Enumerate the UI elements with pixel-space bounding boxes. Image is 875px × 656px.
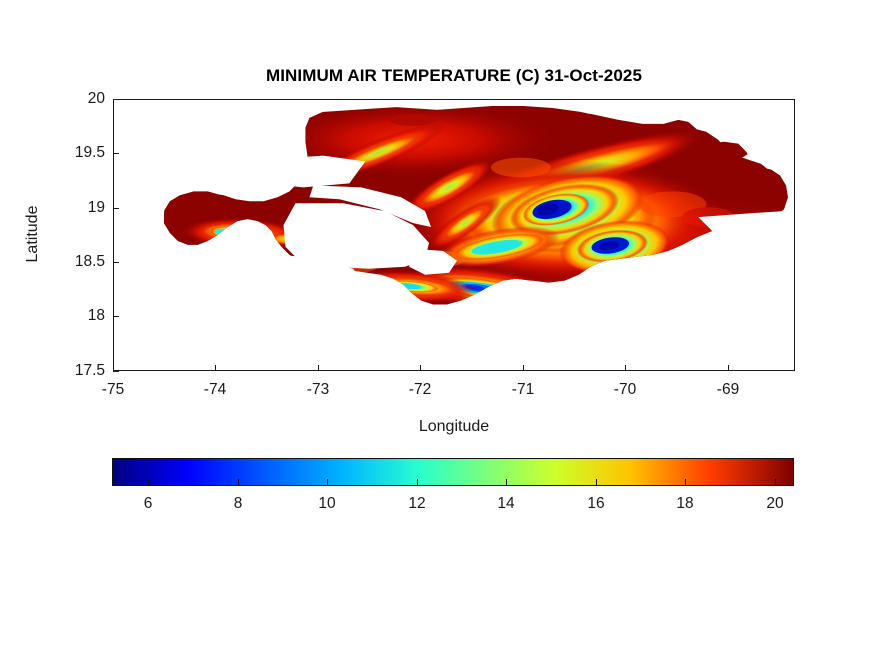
- colorbar-label-5: 16: [566, 495, 626, 513]
- y-tick-label-1: 18: [45, 307, 105, 325]
- land-temperature-field: [114, 100, 794, 370]
- colorbar-gradient: [113, 459, 793, 485]
- colorbar-label-4: 14: [476, 495, 536, 513]
- y-tick-2: [113, 262, 119, 263]
- colorbar-tick-7: [775, 479, 776, 486]
- x-tick-label-3: -72: [385, 381, 455, 399]
- temperature-raster: [114, 100, 794, 370]
- y-tick-label-5: 20: [45, 90, 105, 108]
- colorbar-tick-5: [596, 479, 597, 486]
- colorbar-tick-4: [506, 479, 507, 486]
- x-tick-2: [318, 365, 319, 371]
- map-axes: [113, 99, 795, 371]
- x-tick-6: [728, 365, 729, 371]
- colorbar: [112, 458, 794, 486]
- colorbar-tick-2: [327, 479, 328, 486]
- x-tick-label-5: -70: [590, 381, 660, 399]
- x-axis-label: Longitude: [113, 418, 795, 436]
- y-tick-label-3: 19: [45, 199, 105, 217]
- x-tick-label-6: -69: [693, 381, 763, 399]
- colorbar-tick-3: [417, 479, 418, 486]
- x-tick-4: [523, 365, 524, 371]
- y-tick-label-2: 18.5: [45, 253, 105, 271]
- y-tick-3: [113, 208, 119, 209]
- y-tick-4: [113, 153, 119, 154]
- y-tick-0: [113, 371, 119, 372]
- colorbar-label-6: 18: [655, 495, 715, 513]
- colorbar-label-1: 8: [208, 495, 268, 513]
- x-tick-3: [420, 365, 421, 371]
- y-tick-1: [113, 316, 119, 317]
- x-tick-label-0: -75: [78, 381, 148, 399]
- colorbar-label-3: 12: [387, 495, 447, 513]
- x-tick-label-1: -74: [180, 381, 250, 399]
- x-tick-label-2: -73: [283, 381, 353, 399]
- x-tick-1: [215, 365, 216, 371]
- y-tick-label-0: 17.5: [45, 362, 105, 380]
- colorbar-tick-1: [238, 479, 239, 486]
- colorbar-tick-6: [685, 479, 686, 486]
- y-tick-5: [113, 99, 119, 100]
- x-tick-5: [625, 365, 626, 371]
- colorbar-label-2: 10: [297, 495, 357, 513]
- colorbar-label-0: 6: [118, 495, 178, 513]
- colorbar-tick-0: [148, 479, 149, 486]
- figure-canvas: MINIMUM AIR TEMPERATURE (C) 31-Oct-2025: [0, 0, 875, 656]
- chart-title: MINIMUM AIR TEMPERATURE (C) 31-Oct-2025: [113, 66, 795, 86]
- y-tick-label-4: 19.5: [45, 144, 105, 162]
- colorbar-label-7: 20: [745, 495, 805, 513]
- x-tick-label-4: -71: [488, 381, 558, 399]
- y-axis-label: Latitude: [24, 174, 42, 294]
